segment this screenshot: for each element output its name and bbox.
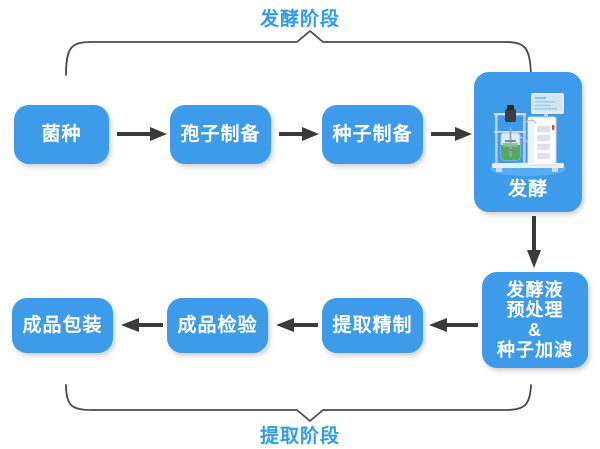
node-strain-label: 菌种	[41, 124, 81, 145]
node-broth-pretreatment-label: 发酵液 预处理 & 种子加滤	[497, 280, 573, 361]
node-product-inspection[interactable]: 成品检验	[167, 298, 268, 353]
extraction-stage-label: 提取阶段	[0, 421, 600, 448]
brace-extraction-stage	[66, 385, 531, 421]
node-spore-preparation-label: 孢子制备	[180, 124, 260, 145]
node-fermentation-label: 发酵	[508, 179, 548, 200]
arrow-seed-to-ferment	[431, 127, 472, 141]
fermentation-stage-label: 发酵阶段	[0, 4, 600, 31]
flowchart-canvas: 发酵阶段 提取阶段	[0, 0, 600, 449]
node-spore-preparation[interactable]: 孢子制备	[170, 105, 271, 164]
node-product-inspection-label: 成品检验	[177, 315, 257, 336]
node-seed-preparation-label: 种子制备	[332, 124, 412, 145]
node-broth-pretreatment[interactable]: 发酵液 预处理 & 种子加滤	[482, 272, 588, 368]
node-extraction-refining[interactable]: 提取精制	[322, 298, 423, 353]
arrow-extract-to-inspect	[276, 318, 318, 332]
bioreactor-photo	[482, 87, 574, 179]
brace-fermentation-stage	[66, 31, 531, 75]
node-seed-preparation[interactable]: 种子制备	[322, 105, 423, 164]
arrow-inspect-to-package	[121, 318, 163, 332]
arrow-strain-to-spore	[117, 127, 167, 141]
arrow-spore-to-seed	[279, 127, 319, 141]
node-product-packaging-label: 成品包装	[22, 315, 102, 336]
connector-overlay	[0, 0, 600, 449]
node-product-packaging[interactable]: 成品包装	[12, 298, 113, 353]
node-strain[interactable]: 菌种	[14, 105, 109, 164]
node-fermentation[interactable]: 发酵	[474, 72, 582, 212]
arrow-ferment-to-pretreat	[527, 216, 541, 268]
node-extraction-refining-label: 提取精制	[332, 315, 412, 336]
arrow-pretreat-to-extract	[429, 318, 478, 332]
